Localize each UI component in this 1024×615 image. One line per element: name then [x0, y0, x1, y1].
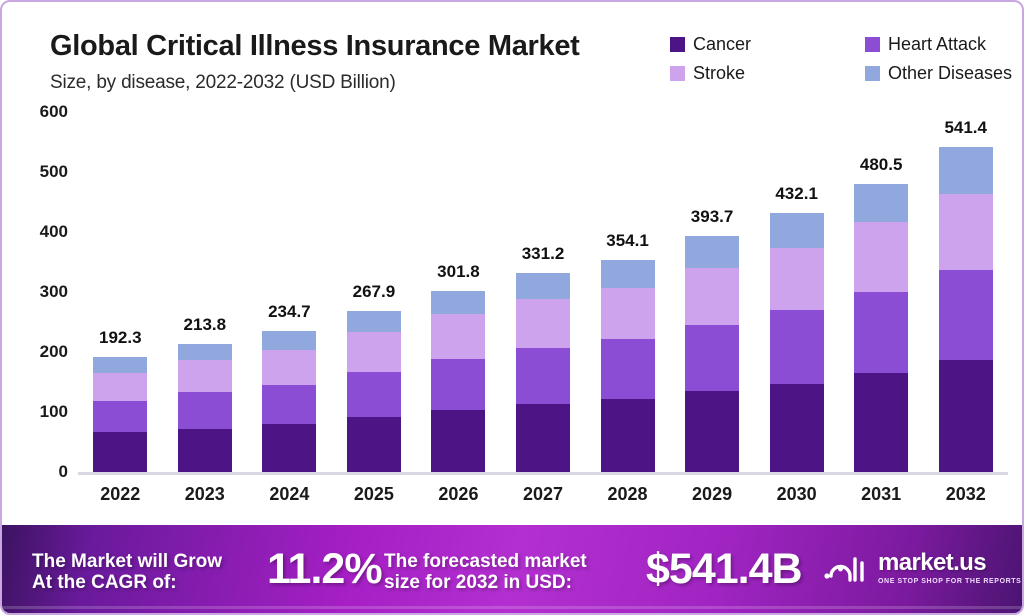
- bar-group[interactable]: 301.8: [431, 112, 485, 472]
- bar-segment-other-diseases[interactable]: [601, 260, 655, 288]
- bar-segment-other-diseases[interactable]: [685, 236, 739, 268]
- legend-item-other-diseases[interactable]: Other Diseases: [865, 63, 1020, 84]
- bar-total-label: 354.1: [606, 231, 649, 251]
- bar-segment-stroke[interactable]: [431, 314, 485, 359]
- bar-segment-heart-attack[interactable]: [93, 401, 147, 432]
- bar-stack: [431, 291, 485, 472]
- x-tick-label: 2024: [247, 484, 332, 505]
- bar-stack: [347, 311, 401, 472]
- legend-label: Cancer: [693, 34, 751, 55]
- x-tick-label: 2023: [163, 484, 248, 505]
- market-us-logo-icon: [822, 550, 870, 584]
- legend-swatch-other-diseases: [865, 66, 880, 81]
- y-tick-label: 0: [2, 462, 68, 482]
- legend-item-stroke[interactable]: Stroke: [670, 63, 865, 84]
- legend-label: Other Diseases: [888, 63, 1012, 84]
- bar-total-label: 192.3: [99, 328, 142, 348]
- bar-segment-stroke[interactable]: [516, 299, 570, 348]
- x-tick-label: 2025: [332, 484, 417, 505]
- logo-text-block: market.us ONE STOP SHOP FOR THE REPORTS: [878, 549, 1021, 585]
- cagr-value: 11.2%: [267, 545, 382, 593]
- x-tick-label: 2027: [501, 484, 586, 505]
- x-tick-label: 2029: [670, 484, 755, 505]
- bar-total-label: 331.2: [522, 244, 565, 264]
- bar-stack: [854, 184, 908, 472]
- bar-segment-other-diseases[interactable]: [262, 331, 316, 350]
- y-tick-label: 500: [2, 162, 68, 182]
- legend-item-heart-attack[interactable]: Heart Attack: [865, 34, 1020, 55]
- bar-segment-heart-attack[interactable]: [431, 359, 485, 410]
- y-tick-label: 300: [2, 282, 68, 302]
- bar-total-label: 432.1: [775, 184, 818, 204]
- x-tick-label: 2031: [839, 484, 924, 505]
- bar-segment-cancer[interactable]: [854, 373, 908, 472]
- bar-segment-other-diseases[interactable]: [516, 273, 570, 299]
- forecast-caption: The forecasted market size for 2032 in U…: [384, 551, 587, 594]
- bar-segment-cancer[interactable]: [262, 424, 316, 472]
- bar-segment-other-diseases[interactable]: [854, 184, 908, 222]
- bar-total-label: 301.8: [437, 262, 480, 282]
- bar-segment-stroke[interactable]: [93, 373, 147, 401]
- bar-segment-other-diseases[interactable]: [939, 147, 993, 194]
- cagr-caption: The Market will Grow At the CAGR of:: [32, 551, 222, 594]
- bar-group[interactable]: 267.9: [347, 112, 401, 472]
- bar-segment-cancer[interactable]: [93, 432, 147, 472]
- x-tick-label: 2032: [923, 484, 1008, 505]
- market-us-logo[interactable]: market.us ONE STOP SHOP FOR THE REPORTS: [822, 549, 1021, 585]
- x-axis-line: [78, 472, 1008, 475]
- bar-segment-stroke[interactable]: [601, 288, 655, 340]
- bar-segment-cancer[interactable]: [516, 404, 570, 472]
- bar-segment-other-diseases[interactable]: [93, 357, 147, 373]
- bar-segment-cancer[interactable]: [939, 360, 993, 472]
- bar-stack: [601, 260, 655, 472]
- bar-total-label: 213.8: [184, 315, 227, 335]
- logo-tagline: ONE STOP SHOP FOR THE REPORTS: [878, 578, 1021, 585]
- logo-name: market.us: [878, 549, 1021, 577]
- chart-subtitle: Size, by disease, 2022-2032 (USD Billion…: [50, 72, 396, 94]
- forecast-caption-line-1: The forecasted market: [384, 551, 587, 572]
- bar-segment-cancer[interactable]: [431, 410, 485, 472]
- y-tick-label: 600: [2, 102, 68, 122]
- bar-total-label: 234.7: [268, 302, 311, 322]
- bar-group[interactable]: 234.7: [262, 112, 316, 472]
- bar-group[interactable]: 354.1: [601, 112, 655, 472]
- bar-stack: [770, 213, 824, 472]
- bar-segment-heart-attack[interactable]: [854, 292, 908, 373]
- x-tick-label: 2030: [754, 484, 839, 505]
- bar-stack: [939, 147, 993, 472]
- bar-segment-other-diseases[interactable]: [347, 311, 401, 332]
- bar-group[interactable]: 432.1: [770, 112, 824, 472]
- bar-segment-heart-attack[interactable]: [939, 270, 993, 360]
- x-tick-label: 2026: [416, 484, 501, 505]
- bar-segment-heart-attack[interactable]: [178, 392, 232, 428]
- bar-segment-cancer[interactable]: [601, 399, 655, 472]
- bar-segment-cancer[interactable]: [347, 417, 401, 472]
- bar-total-label: 541.4: [944, 118, 987, 138]
- bar-segment-cancer[interactable]: [770, 384, 824, 472]
- bar-segment-other-diseases[interactable]: [770, 213, 824, 248]
- bar-segment-cancer[interactable]: [178, 429, 232, 473]
- bar-segment-heart-attack[interactable]: [601, 339, 655, 399]
- bar-group[interactable]: 393.7: [685, 112, 739, 472]
- bar-group[interactable]: 331.2: [516, 112, 570, 472]
- bar-stack: [685, 236, 739, 472]
- bar-stack: [93, 357, 147, 472]
- bar-segment-heart-attack[interactable]: [770, 310, 824, 384]
- infographic-chart-card: Global Critical Illness Insurance Market…: [0, 0, 1024, 615]
- chart-legend: CancerHeart AttackStrokeOther Diseases: [670, 30, 1020, 88]
- legend-swatch-heart-attack: [865, 37, 880, 52]
- forecast-market-size-value: $541.4B: [646, 545, 802, 593]
- bar-segment-stroke[interactable]: [178, 360, 232, 392]
- legend-swatch-stroke: [670, 66, 685, 81]
- legend-label: Heart Attack: [888, 34, 986, 55]
- bar-segment-stroke[interactable]: [854, 222, 908, 293]
- forecast-caption-line-2: size for 2032 in USD:: [384, 572, 587, 593]
- legend-label: Stroke: [693, 63, 745, 84]
- bar-segment-cancer[interactable]: [685, 391, 739, 472]
- bar-total-label: 480.5: [860, 155, 903, 175]
- cagr-caption-line-2: At the CAGR of:: [32, 572, 222, 593]
- bar-segment-other-diseases[interactable]: [431, 291, 485, 314]
- bar-segment-heart-attack[interactable]: [516, 348, 570, 404]
- y-tick-label: 100: [2, 402, 68, 422]
- bar-total-label: 393.7: [691, 207, 734, 227]
- chart-plot-area: 0100200300400500600 192.3213.8234.7267.9…: [2, 112, 1024, 527]
- bar-series-container: 192.3213.8234.7267.9301.8331.2354.1393.7…: [78, 112, 1008, 472]
- bar-segment-stroke[interactable]: [262, 350, 316, 385]
- bar-segment-stroke[interactable]: [770, 248, 824, 311]
- bar-group[interactable]: 480.5: [854, 112, 908, 472]
- bar-group[interactable]: 541.4: [939, 112, 993, 472]
- x-tick-label: 2028: [585, 484, 670, 505]
- bar-segment-other-diseases[interactable]: [178, 344, 232, 360]
- legend-item-cancer[interactable]: Cancer: [670, 34, 865, 55]
- bar-total-label: 267.9: [353, 282, 396, 302]
- y-tick-label: 200: [2, 342, 68, 362]
- footer-banner: The Market will Grow At the CAGR of: 11.…: [2, 525, 1024, 613]
- bar-segment-heart-attack[interactable]: [262, 385, 316, 424]
- cagr-caption-line-1: The Market will Grow: [32, 551, 222, 572]
- bar-stack: [516, 273, 570, 472]
- bar-segment-heart-attack[interactable]: [685, 325, 739, 392]
- x-tick-label: 2022: [78, 484, 163, 505]
- bar-segment-stroke[interactable]: [347, 332, 401, 372]
- bar-stack: [262, 331, 316, 472]
- bar-group[interactable]: 192.3: [93, 112, 147, 472]
- y-tick-label: 400: [2, 222, 68, 242]
- legend-swatch-cancer: [670, 37, 685, 52]
- bar-segment-heart-attack[interactable]: [347, 372, 401, 417]
- bar-group[interactable]: 213.8: [178, 112, 232, 472]
- page-title: Global Critical Illness Insurance Market: [50, 30, 580, 63]
- bar-segment-stroke[interactable]: [685, 268, 739, 325]
- bar-segment-stroke[interactable]: [939, 194, 993, 270]
- bar-stack: [178, 344, 232, 472]
